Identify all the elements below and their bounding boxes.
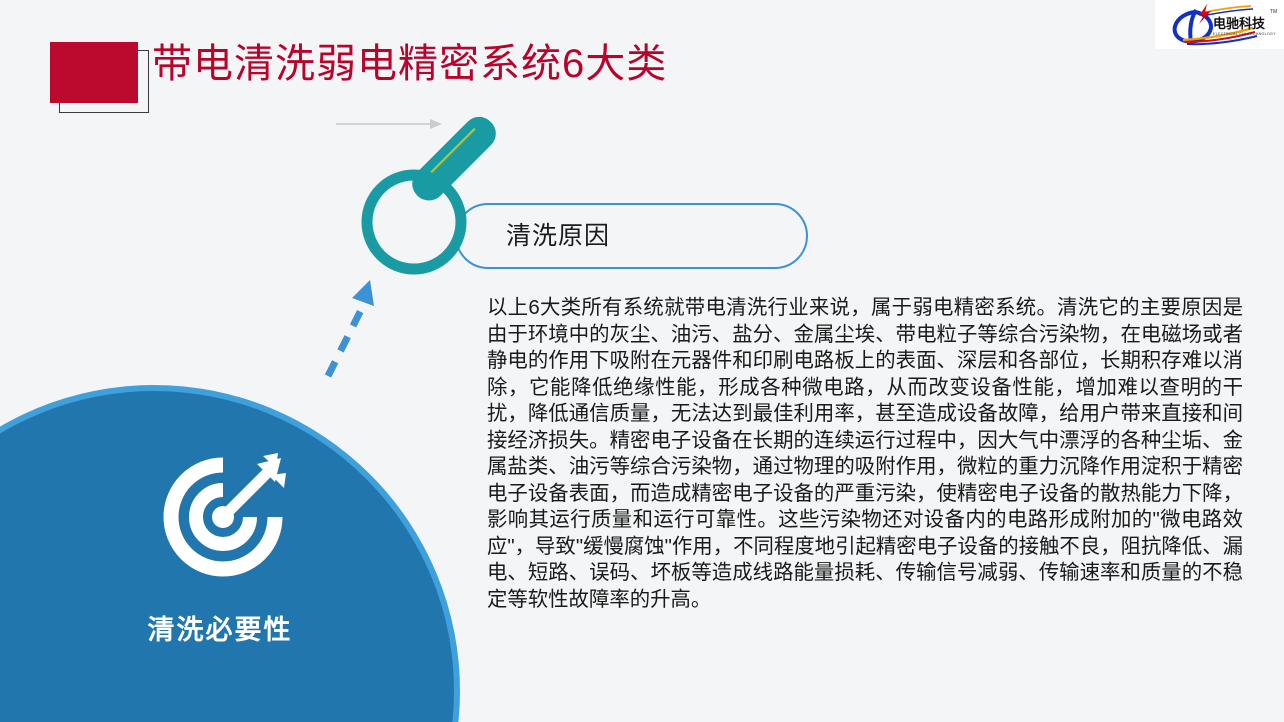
necessity-dome-label: 清洗必要性 xyxy=(0,608,440,647)
svg-text:ELECTRICAL CHI TECHNOLOGY: ELECTRICAL CHI TECHNOLOGY xyxy=(1213,32,1276,36)
title-accent-square xyxy=(50,42,138,103)
target-arrow-icon xyxy=(158,452,288,582)
company-logo: 电驰科技 ELECTRICAL CHI TECHNOLOGY TM xyxy=(1155,0,1284,49)
svg-text:电驰科技: 电驰科技 xyxy=(1213,16,1266,32)
magnifier-icon xyxy=(352,116,532,280)
company-logo-icon: 电驰科技 ELECTRICAL CHI TECHNOLOGY TM xyxy=(1155,0,1284,49)
body-paragraph: 以上6大类所有系统就带电清洗行业来说，属于弱电精密系统。清洗它的主要原因是由于环… xyxy=(487,295,1243,613)
body-paragraph-text: 以上6大类所有系统就带电清洗行业来说，属于弱电精密系统。清洗它的主要原因是由于环… xyxy=(487,295,1243,613)
page-title: 带电清洗弱电精密系统6大类 xyxy=(152,38,667,90)
dashed-arrow-icon xyxy=(322,272,392,382)
svg-text:TM: TM xyxy=(1270,9,1277,15)
slide-canvas: 电驰科技 ELECTRICAL CHI TECHNOLOGY TM 带电清洗弱电… xyxy=(0,0,1284,722)
